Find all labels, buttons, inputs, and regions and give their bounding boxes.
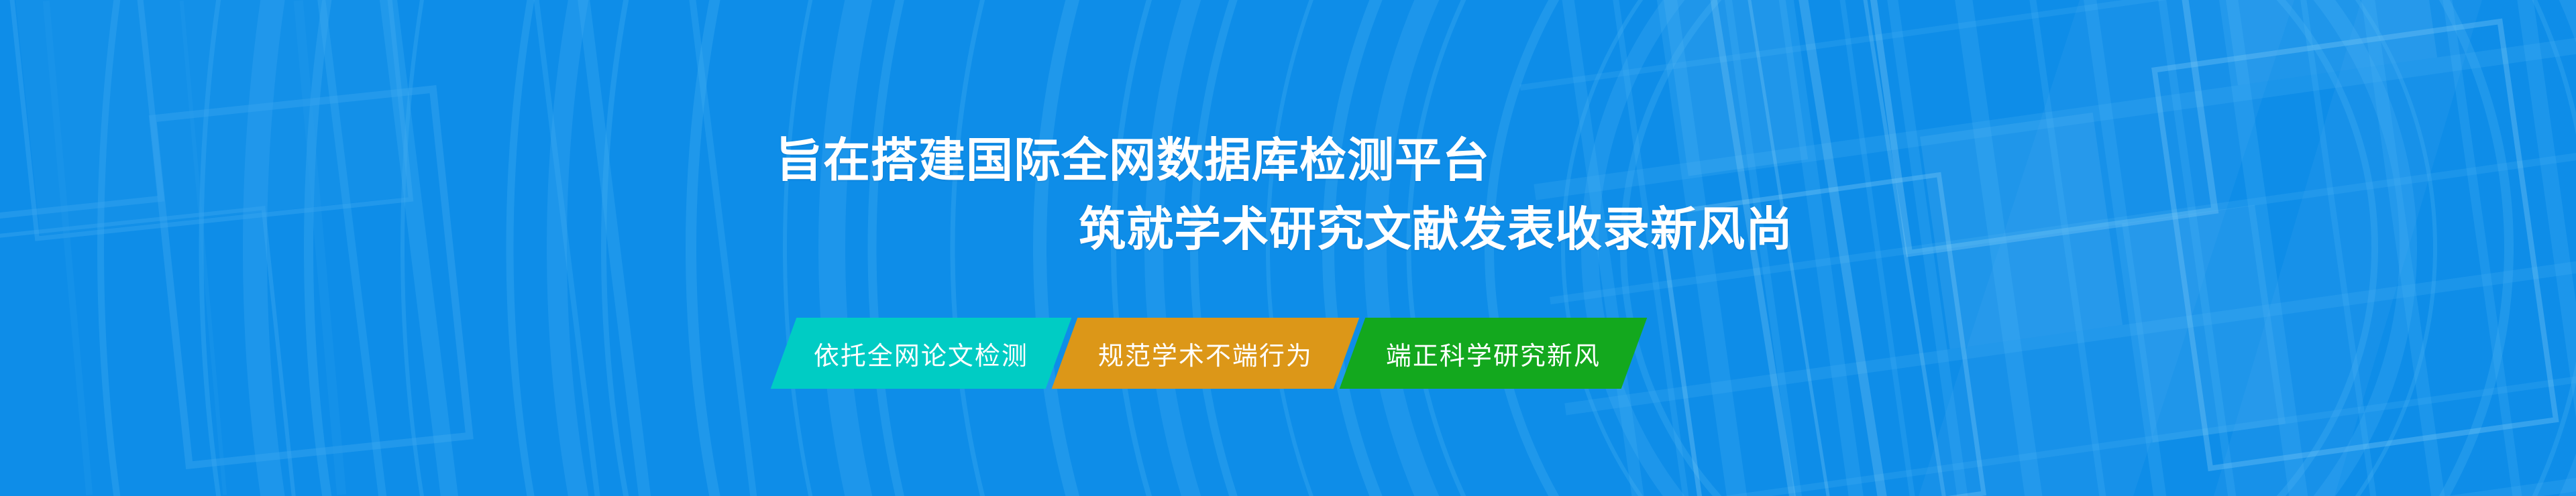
badge-paper-detection-label: 依托全网论文检测 (814, 335, 1028, 372)
badge-research-ethos[interactable]: 端正科学研究新风 (1340, 318, 1648, 389)
badge-paper-detection[interactable]: 依托全网论文检测 (771, 318, 1072, 389)
badge-academic-misconduct-label: 规范学术不端行为 (1098, 335, 1313, 372)
headline-line-1: 旨在搭建国际全网数据库检测平台 (775, 126, 2576, 195)
promo-banner: 旨在搭建国际全网数据库检测平台 筑就学术研究文献发表收录新风尚 依托全网论文检测… (0, 0, 2576, 496)
headline-block: 旨在搭建国际全网数据库检测平台 筑就学术研究文献发表收录新风尚 (0, 126, 2576, 264)
badge-academic-misconduct[interactable]: 规范学术不端行为 (1052, 318, 1360, 389)
feature-badge-strip: 依托全网论文检测 规范学术不端行为 端正科学研究新风 (784, 318, 1634, 389)
headline-line-2: 筑就学术研究文献发表收录新风尚 (1079, 195, 2576, 264)
badge-research-ethos-label: 端正科学研究新风 (1386, 335, 1601, 372)
